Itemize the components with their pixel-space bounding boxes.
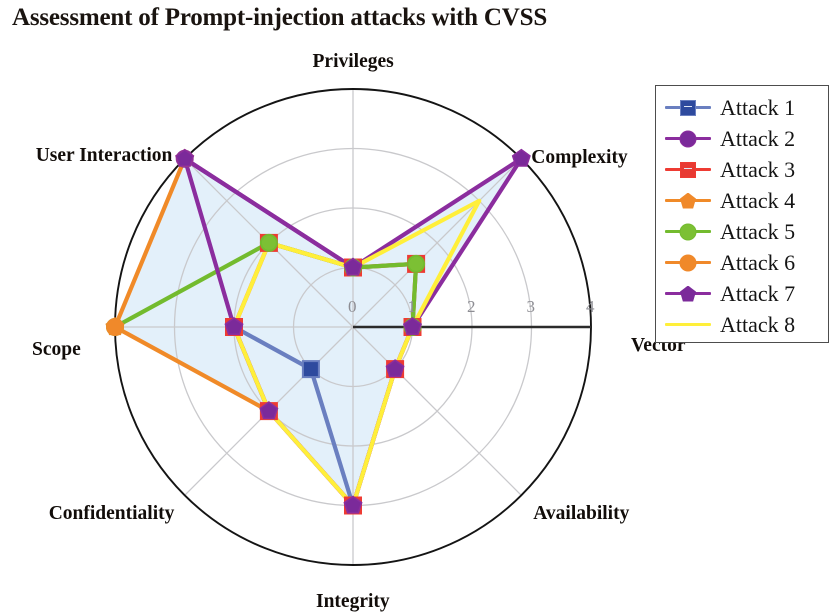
legend-item-3[interactable]: Attack 3 — [656, 154, 828, 185]
legend-marker-circle-icon — [680, 254, 697, 271]
marker-circle-series-5 — [408, 256, 424, 272]
axis-label-availability: Availability — [533, 503, 629, 525]
legend-swatch-circle-icon — [665, 128, 711, 150]
marker-circle-series-6 — [107, 319, 123, 335]
legend-item-2[interactable]: Attack 2 — [656, 123, 828, 154]
legend-swatch-pentagon-icon — [665, 283, 711, 305]
legend-label: Attack 4 — [720, 190, 795, 212]
legend-swatch-pentagon-icon — [665, 190, 711, 212]
radar-chart: 01234VectorComplexityPrivilegesUser Inte… — [0, 55, 650, 612]
legend-marker-circle-icon — [680, 223, 697, 240]
legend-marker-circle-icon — [680, 130, 697, 147]
radial-tick-4: 4 — [586, 297, 595, 317]
marker-square-series-1 — [303, 361, 319, 377]
legend-marker-square-icon — [680, 100, 696, 116]
legend-swatch-none-icon — [665, 314, 711, 336]
legend-item-1[interactable]: Attack 1 — [656, 92, 828, 123]
page-title: Assessment of Prompt-injection attacks w… — [12, 4, 547, 32]
legend-label: Attack 5 — [720, 221, 795, 243]
legend-label: Attack 8 — [720, 314, 795, 336]
legend-item-4[interactable]: Attack 4 — [656, 185, 828, 216]
legend: Attack 1Attack 2Attack 3Attack 4Attack 5… — [655, 85, 829, 343]
radial-tick-1: 1 — [408, 297, 417, 317]
axis-label-complexity: Complexity — [531, 147, 627, 169]
radial-tick-0: 0 — [348, 297, 357, 317]
legend-item-7[interactable]: Attack 7 — [656, 278, 828, 309]
radial-tick-2: 2 — [467, 297, 476, 317]
radar-chart-svg — [0, 55, 650, 612]
legend-swatch-circle-icon — [665, 252, 711, 274]
legend-label: Attack 6 — [720, 252, 795, 274]
axis-label-integrity: Integrity — [316, 591, 390, 613]
legend-swatch-circle-icon — [665, 221, 711, 243]
radial-tick-3: 3 — [527, 297, 536, 317]
legend-item-8[interactable]: Attack 8 — [656, 309, 828, 340]
legend-item-6[interactable]: Attack 6 — [656, 247, 828, 278]
legend-label: Attack 7 — [720, 283, 795, 305]
axis-label-scope: Scope — [32, 339, 81, 361]
axis-label-confidentiality: Confidentiality — [49, 503, 175, 525]
axis-label-privileges: Privileges — [313, 51, 394, 73]
legend-marker-pentagon-icon — [680, 193, 696, 209]
legend-item-5[interactable]: Attack 5 — [656, 216, 828, 247]
legend-swatch-square-icon — [665, 97, 711, 119]
axis-label-user-interaction: User Interaction — [36, 145, 173, 167]
marker-circle-series-5 — [261, 235, 277, 251]
legend-label: Attack 2 — [720, 128, 795, 150]
legend-marker-square-icon — [680, 162, 696, 178]
legend-label: Attack 1 — [720, 97, 795, 119]
legend-swatch-square-icon — [665, 159, 711, 181]
legend-label: Attack 3 — [720, 159, 795, 181]
legend-line — [665, 323, 711, 326]
grid-spoke — [353, 159, 521, 327]
legend-marker-pentagon-icon — [680, 286, 696, 302]
